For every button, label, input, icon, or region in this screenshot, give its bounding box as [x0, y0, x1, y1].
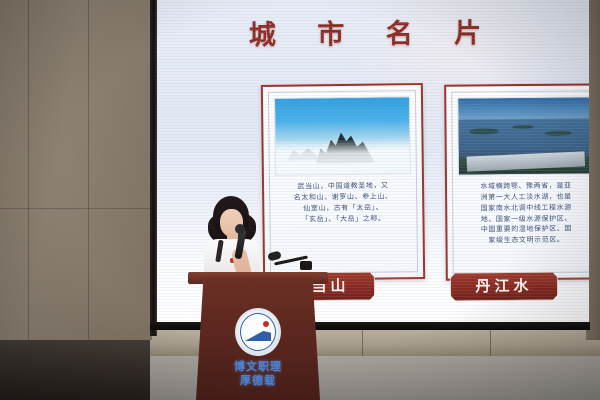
- wall-screen-edge: [150, 0, 157, 336]
- floor-shadow-left: [0, 330, 150, 400]
- photo-scene: 城 市 名 片 武当山，中国道教圣地，又 名太和山、谢罗山、参上山、 仙室山，古…: [0, 0, 600, 400]
- left-wall: [0, 0, 152, 340]
- institution-emblem-icon: [235, 308, 281, 356]
- podium: 博文职理 厚德载: [196, 278, 320, 400]
- podium-motto-line2: 厚德载: [196, 374, 320, 388]
- nameplate-danjiang: 丹江水: [450, 272, 558, 302]
- podium-motto: 博文职理 厚德载: [196, 360, 320, 388]
- podium-motto-line1: 博文职理: [196, 360, 320, 374]
- gooseneck-microphone: [268, 243, 312, 273]
